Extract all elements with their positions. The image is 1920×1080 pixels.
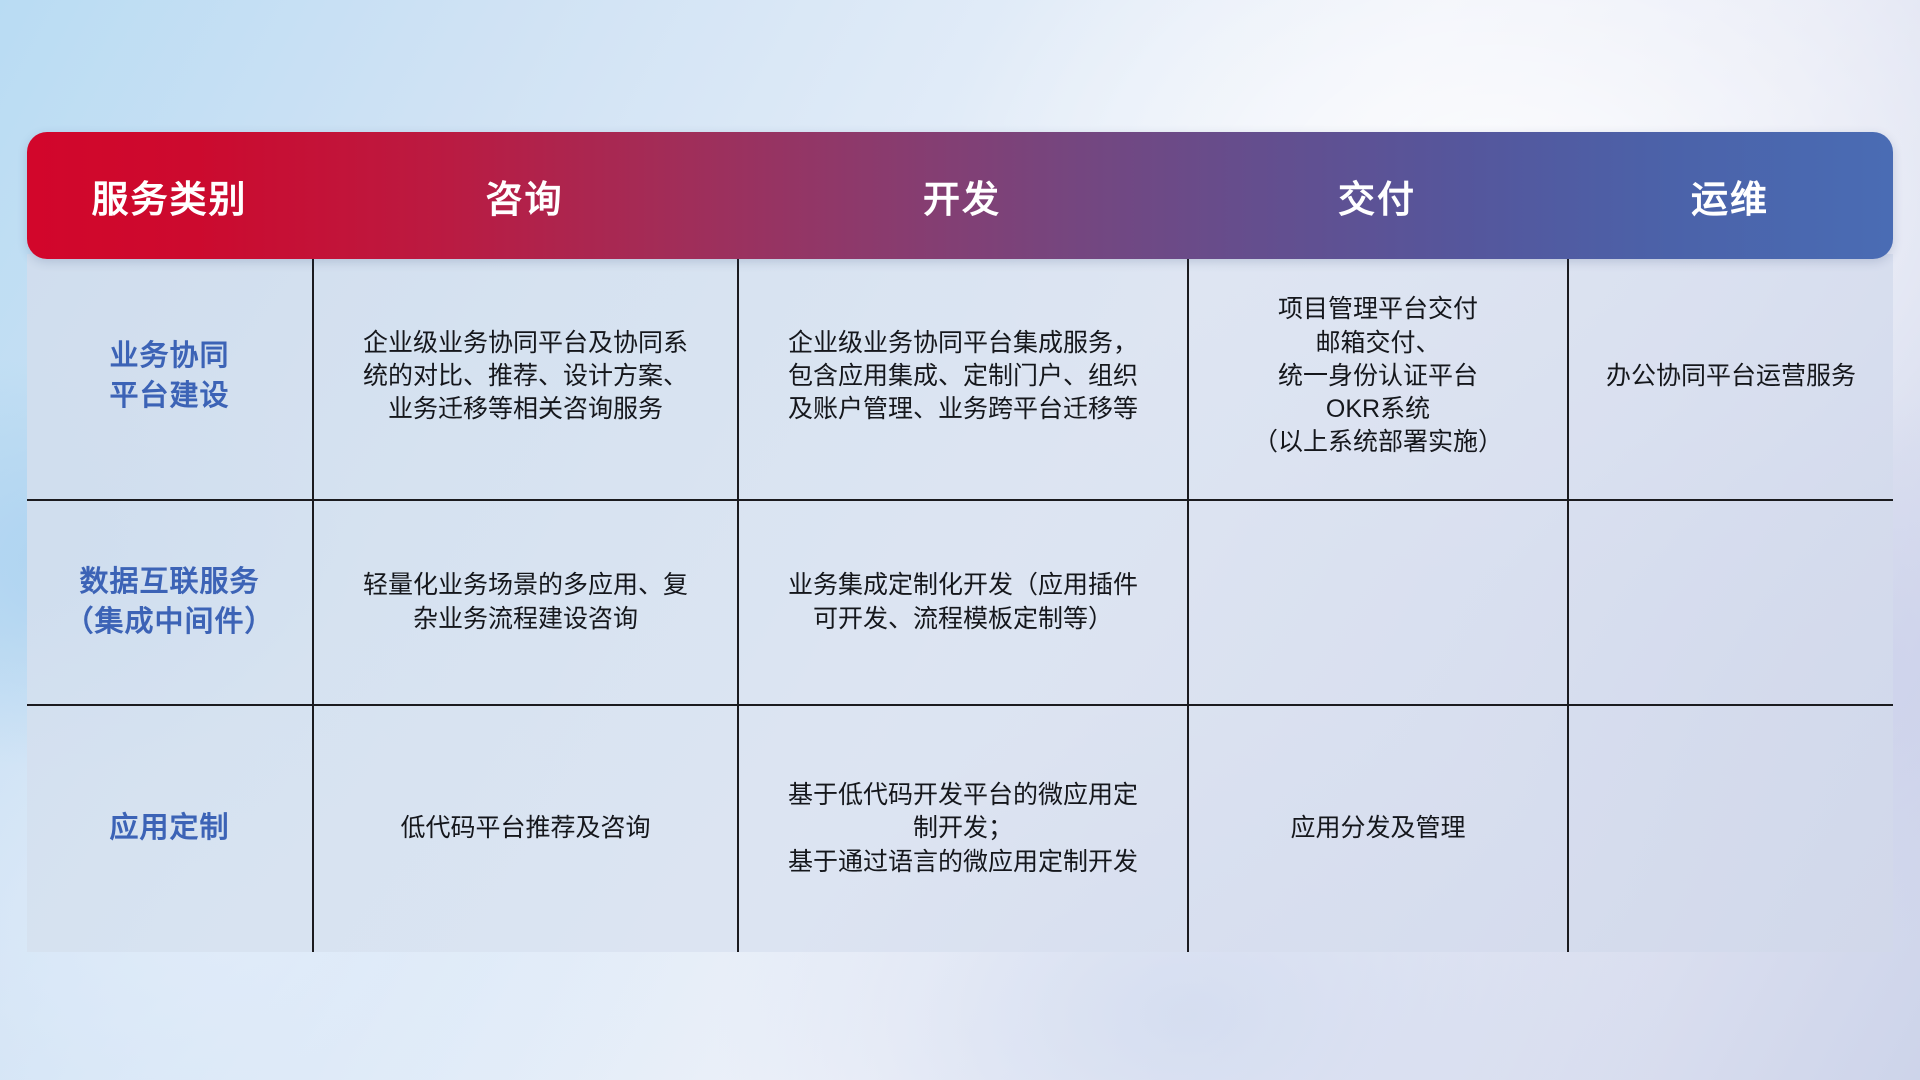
cell-development: 企业级业务协同平台集成服务， 包含应用集成、定制门户、组织 及账户管理、业务跨平… xyxy=(737,254,1187,499)
column-header-delivery: 交付 xyxy=(1187,169,1567,223)
table-row: 数据互联服务 （集成中间件） 轻量化业务场景的多应用、复 杂业务流程建设咨询 业… xyxy=(27,499,1893,704)
cell-delivery xyxy=(1187,501,1567,704)
cell-category: 应用定制 xyxy=(27,706,312,952)
cell-operations xyxy=(1567,706,1893,952)
cell-operations: 办公协同平台运营服务 xyxy=(1567,254,1893,499)
table-row: 应用定制 低代码平台推荐及咨询 基于低代码开发平台的微应用定 制开发； 基于通过… xyxy=(27,704,1893,952)
cell-delivery: 应用分发及管理 xyxy=(1187,706,1567,952)
cell-development: 基于低代码开发平台的微应用定 制开发； 基于通过语言的微应用定制开发 xyxy=(737,706,1187,952)
cell-consulting: 企业级业务协同平台及协同系 统的对比、推荐、设计方案、 业务迁移等相关咨询服务 xyxy=(312,254,737,499)
column-header-operations: 运维 xyxy=(1567,169,1893,223)
table-header-row: 服务类别 咨询 开发 交付 运维 xyxy=(27,132,1893,259)
cell-operations xyxy=(1567,501,1893,704)
cell-category: 数据互联服务 （集成中间件） xyxy=(27,501,312,704)
cell-category: 业务协同 平台建设 xyxy=(27,254,312,499)
cell-consulting: 轻量化业务场景的多应用、复 杂业务流程建设咨询 xyxy=(312,501,737,704)
table-body: 业务协同 平台建设 企业级业务协同平台及协同系 统的对比、推荐、设计方案、 业务… xyxy=(27,254,1893,952)
column-header-consulting: 咨询 xyxy=(312,169,737,223)
service-matrix-table: 服务类别 咨询 开发 交付 运维 业务协同 平台建设 企业级业务协同平台及协同系… xyxy=(27,132,1893,952)
cell-development: 业务集成定制化开发（应用插件 可开发、流程模板定制等） xyxy=(737,501,1187,704)
table-row: 业务协同 平台建设 企业级业务协同平台及协同系 统的对比、推荐、设计方案、 业务… xyxy=(27,254,1893,499)
cell-consulting: 低代码平台推荐及咨询 xyxy=(312,706,737,952)
column-header-service-category: 服务类别 xyxy=(27,169,312,223)
cell-delivery: 项目管理平台交付 邮箱交付、 统一身份认证平台 OKR系统 （以上系统部署实施） xyxy=(1187,254,1567,499)
column-header-development: 开发 xyxy=(737,169,1187,223)
